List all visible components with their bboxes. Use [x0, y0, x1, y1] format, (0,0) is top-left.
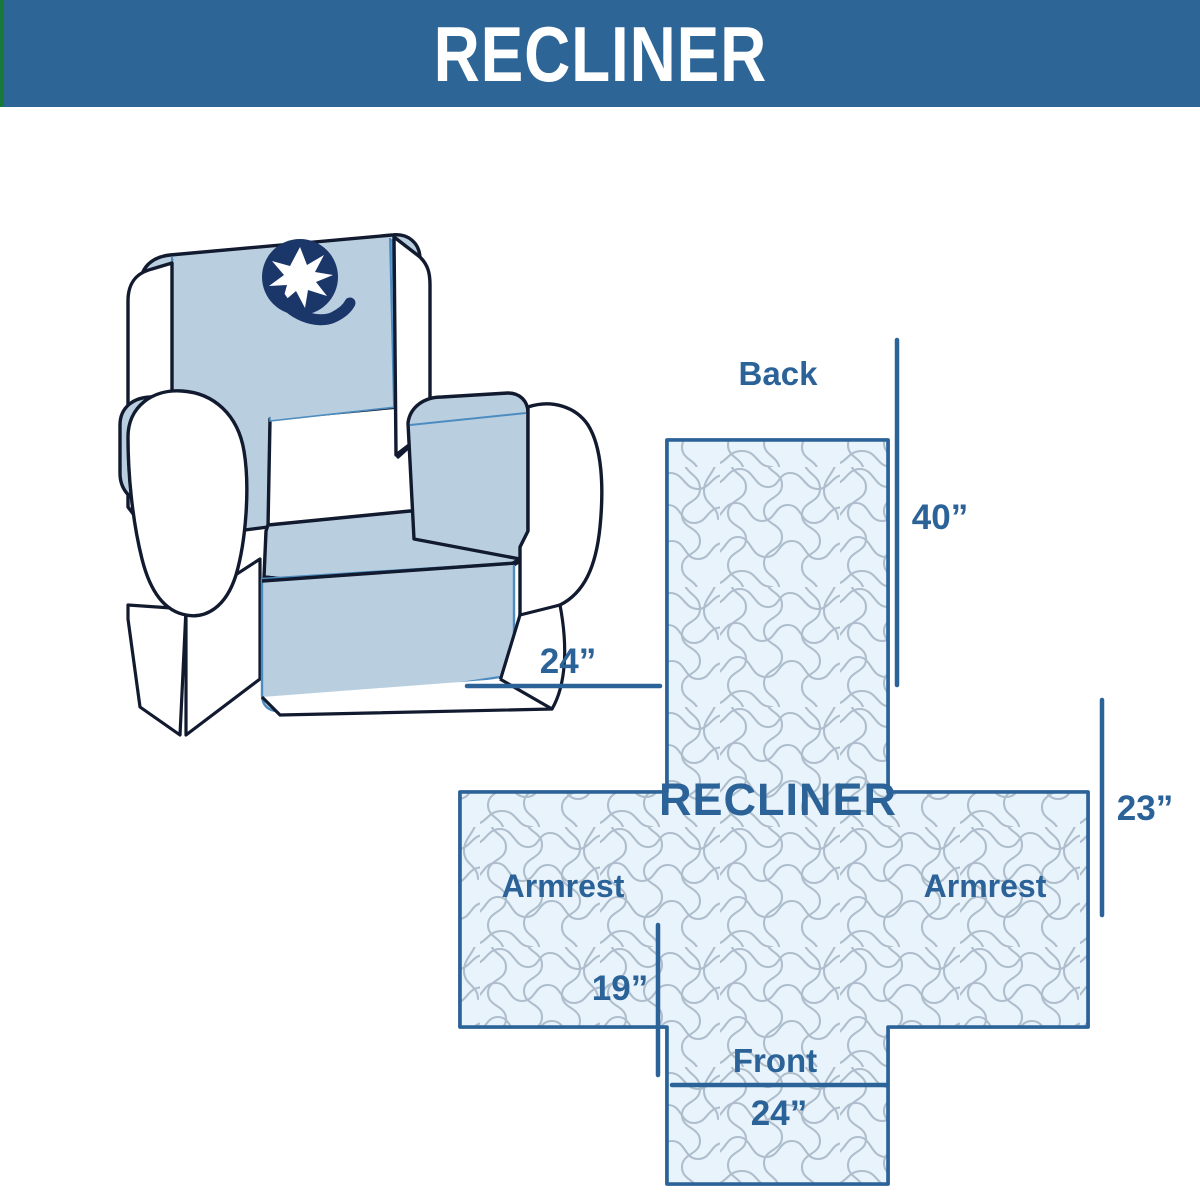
recliner-chair-illustration: Back RECLINER Armrest Armrest Front 24” …	[0, 107, 1200, 1200]
dimension-label-front-height: 19”	[592, 969, 648, 1008]
diagram-center-label: RECLINER	[659, 774, 897, 825]
panel-label-armrest-right: Armrest	[924, 868, 1047, 904]
dimension-label-back-height: 40”	[912, 498, 968, 537]
dimension-label-armrest-height: 23”	[1117, 789, 1173, 828]
dimension-label-back-width: 24”	[540, 642, 596, 681]
dimension-label-front-width: 24”	[751, 1094, 807, 1133]
product-size-guide-page: RECLINER	[0, 0, 1200, 1200]
content-area: Back RECLINER Armrest Armrest Front 24” …	[0, 107, 1200, 1200]
header-accent-stripe	[0, 0, 4, 107]
header-banner: RECLINER	[0, 0, 1200, 107]
panel-label-back: Back	[739, 355, 819, 392]
chair-graphic	[120, 235, 602, 735]
page-title: RECLINER	[433, 15, 766, 93]
panel-label-front: Front	[733, 1042, 817, 1079]
panel-label-armrest-left: Armrest	[502, 868, 625, 904]
